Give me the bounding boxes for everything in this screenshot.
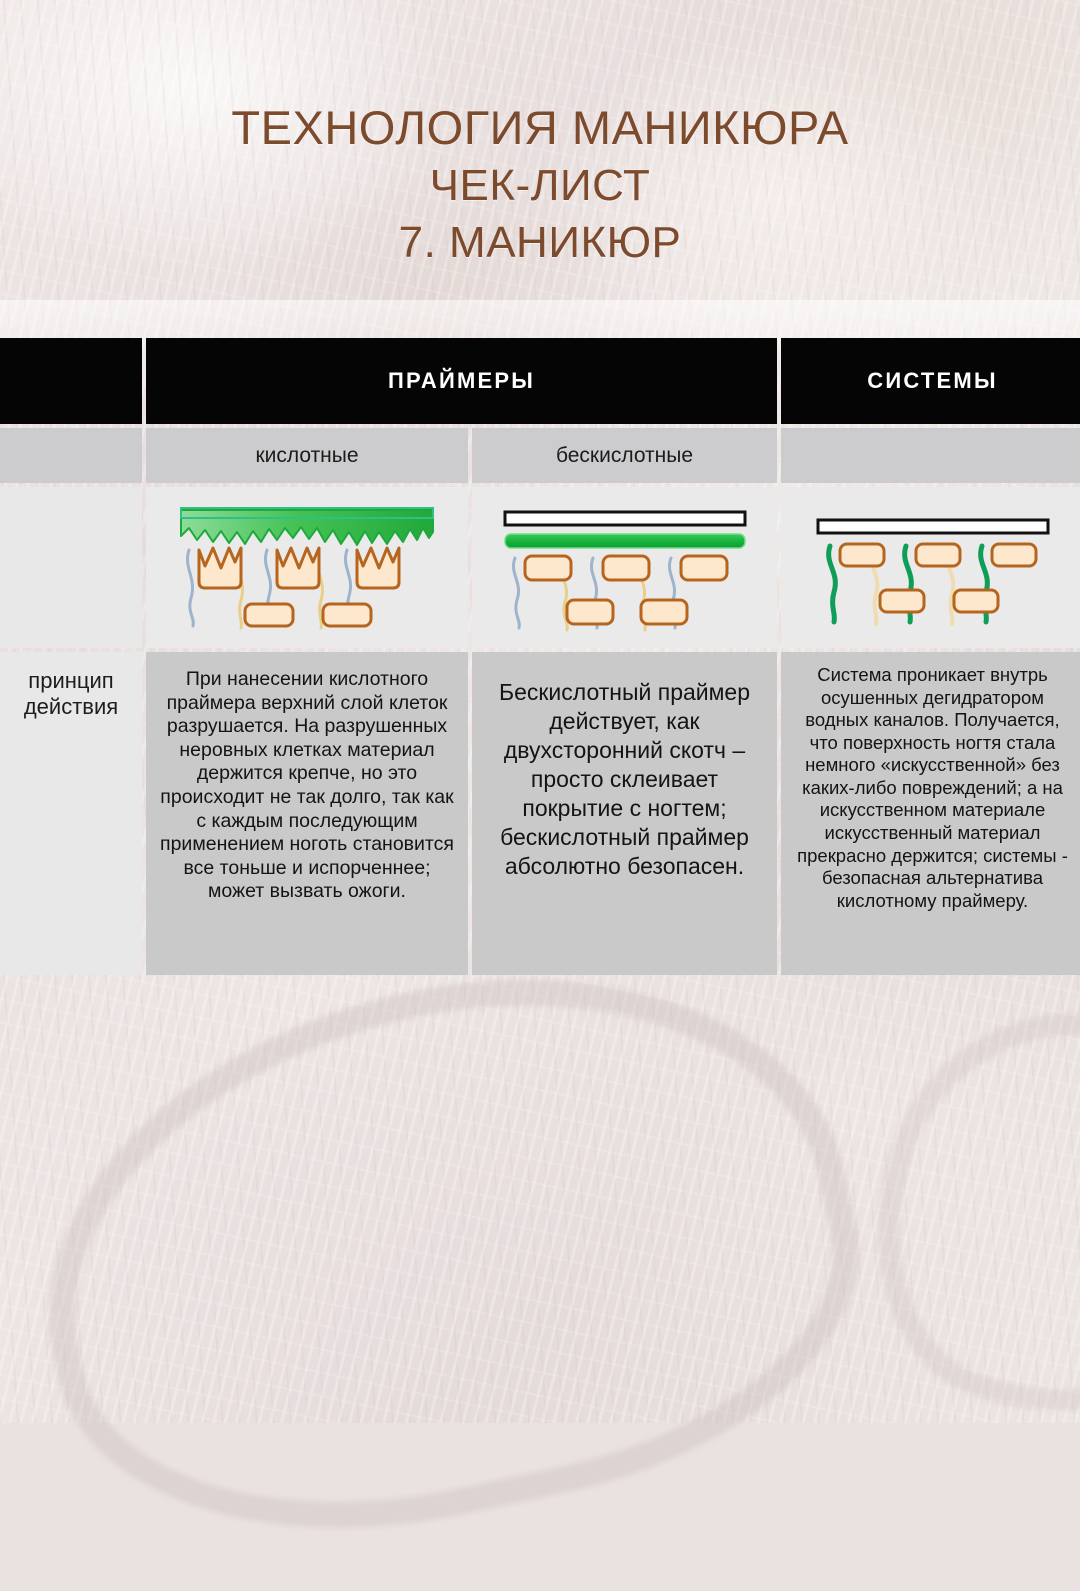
subheader-acid: кислотные	[146, 428, 468, 483]
table-subheader-row: кислотные бескислотные	[0, 428, 1080, 483]
text-acid-primer-body: При нанесении кислотного праймера верхни…	[160, 668, 454, 904]
page-title-block: ТЕХНОЛОГИЯ МАНИКЮРА ЧЕК-ЛИСТ 7. МАНИКЮР	[0, 104, 1080, 265]
text-acid-free-primer: Бескислотный праймер действует, как двух…	[472, 652, 777, 975]
table-header-row: ПРАЙМЕРЫ СИСТЕМЫ	[0, 338, 1080, 424]
subheader-acid-free: бескислотные	[472, 428, 777, 483]
table-text-row: принцип действия При нанесении кислотног…	[0, 652, 1080, 975]
acid-free-primer-diagram	[472, 487, 777, 648]
subheader-systems	[781, 428, 1080, 483]
subheader-corner-cell	[0, 428, 142, 483]
text-systems-body: Система проникает внутрь осушенных дегид…	[795, 664, 1070, 912]
header-systems: СИСТЕМЫ	[781, 338, 1080, 424]
table-diagram-row	[0, 487, 1080, 648]
text-systems: Система проникает внутрь осушенных дегид…	[781, 652, 1080, 975]
header-corner-cell	[0, 338, 142, 424]
row-label-line-1: принцип	[0, 668, 142, 694]
text-acid-free-primer-body: Бескислотный праймер действует, как двух…	[486, 678, 763, 881]
title-line-2: ЧЕК-ЛИСТ	[0, 164, 1080, 208]
comparison-table: ПРАЙМЕРЫ СИСТЕМЫ кислотные бескислотные	[0, 338, 1080, 975]
row-label-principle: принцип действия	[0, 652, 142, 975]
acid-primer-diagram	[146, 487, 468, 648]
systems-diagram	[781, 487, 1080, 648]
title-line-3: 7. МАНИКЮР	[0, 221, 1080, 265]
text-acid-primer: При нанесении кислотного праймера верхни…	[146, 652, 468, 975]
title-line-1: ТЕХНОЛОГИЯ МАНИКЮРА	[0, 104, 1080, 151]
diagram-corner-cell	[0, 487, 142, 648]
row-label-line-2: действия	[0, 694, 142, 720]
header-primers: ПРАЙМЕРЫ	[146, 338, 777, 424]
